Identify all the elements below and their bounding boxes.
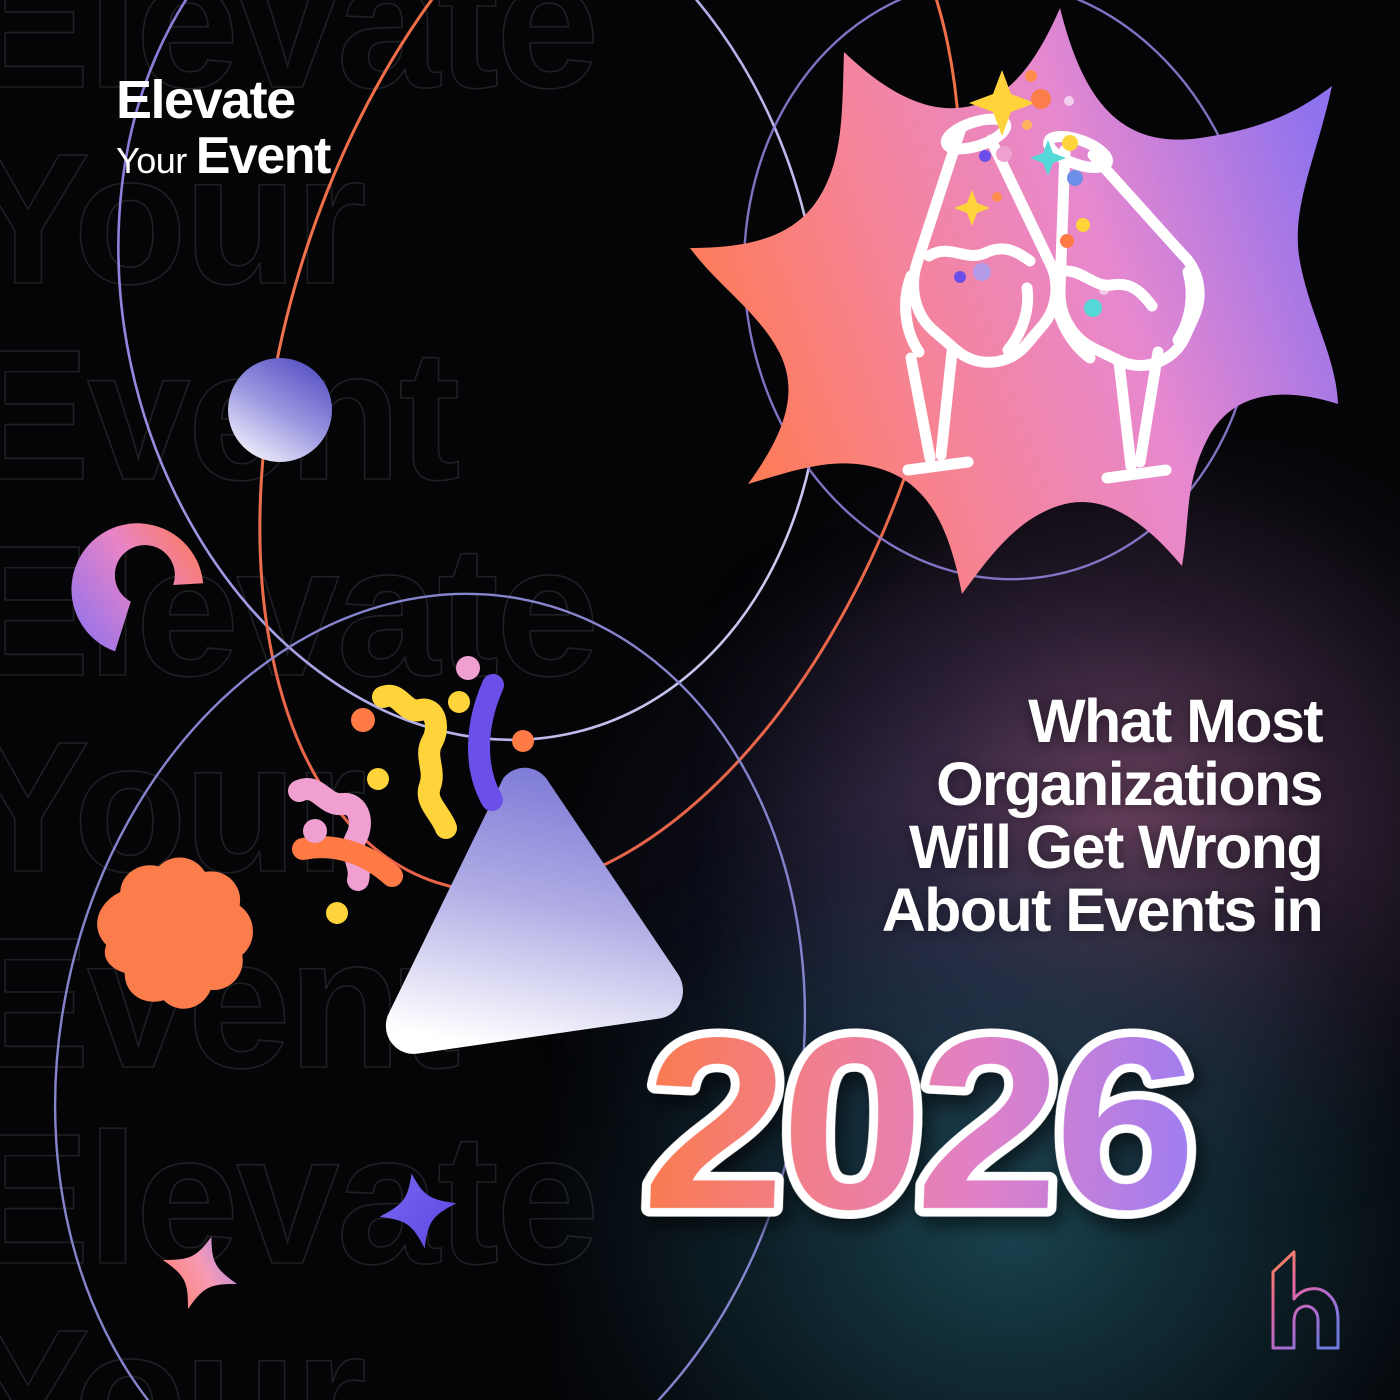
- logo-line-your: Your: [116, 137, 187, 185]
- orange-blob: [84, 841, 269, 1026]
- logo-line-event: Event: [196, 132, 330, 180]
- year-value: 2026: [640, 1000, 1196, 1250]
- headline-line-4: About Events in: [706, 879, 1322, 942]
- party-popper: [299, 656, 686, 1056]
- champagne-burst: [690, 8, 1338, 594]
- headline-line-3: Will Get Wrong: [706, 816, 1322, 879]
- confetti-arc-purple: [479, 685, 493, 800]
- h-monogram-icon[interactable]: [1260, 1244, 1352, 1356]
- four-point-star-purple: [373, 1167, 463, 1255]
- pacman-arc-shape: [59, 511, 213, 666]
- gradient-sphere: [228, 358, 332, 462]
- confetti-squiggle-yellow: [383, 696, 446, 828]
- four-point-star-coral: [151, 1225, 249, 1321]
- brand-logo[interactable]: Elevate Your Event: [116, 72, 330, 185]
- headline-block: What Most Organizations Will Get Wrong A…: [706, 690, 1322, 942]
- headline-line-1: What Most: [706, 690, 1322, 753]
- poster-canvas: Elevate Your Event Elevate Your Event El…: [0, 0, 1400, 1400]
- year-graphic: 2026: [640, 1000, 1330, 1250]
- headline-line-2: Organizations: [706, 753, 1322, 816]
- logo-line-elevate: Elevate: [116, 72, 330, 128]
